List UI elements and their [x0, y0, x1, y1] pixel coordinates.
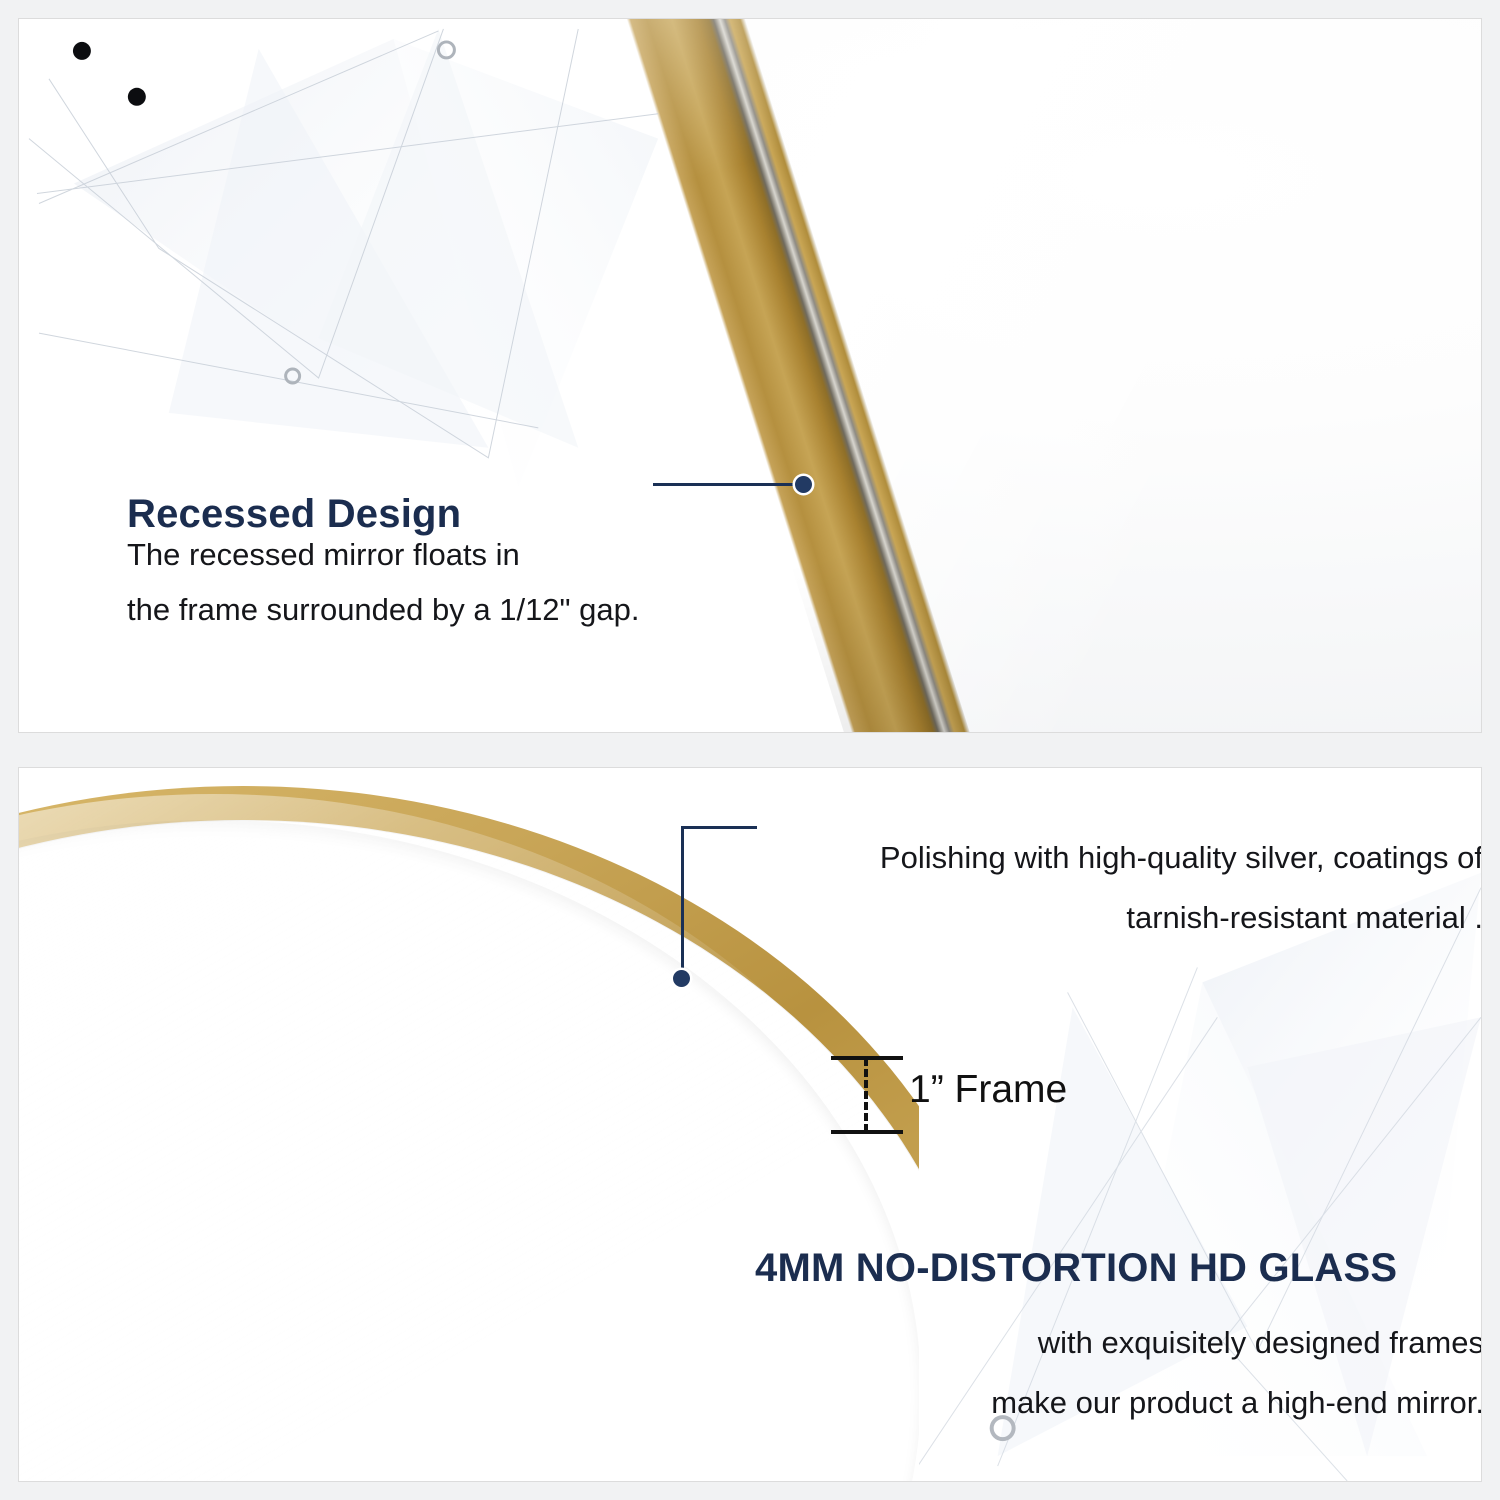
headline-hd-glass: 4MM NO-DISTORTION HD GLASS [755, 1246, 1482, 1291]
sub-line-2: make our product a high-end mirror. [709, 1373, 1482, 1433]
callout-line-2: tarnish-resistant material . [741, 888, 1482, 948]
panel-recessed-design: Recessed Design The recessed mirror floa… [18, 18, 1482, 733]
callout-anchor-dot [673, 970, 690, 987]
dimension-bar-bottom [831, 1130, 903, 1134]
sub-line-1: with exquisitely designed frames [709, 1313, 1482, 1373]
body-line-2: the frame surrounded by a 1/12" gap. [127, 582, 807, 637]
callout-text-silver-coating: Polishing with high-quality silver, coat… [741, 828, 1482, 949]
callout-leader-line [653, 483, 803, 486]
subtext-hd-glass: with exquisitely designed frames make ou… [709, 1313, 1482, 1432]
panel-hd-glass: Polishing with high-quality silver, coat… [18, 767, 1482, 1482]
dimension-label-frame-width: 1” Frame [909, 1068, 1067, 1112]
panel-body-recessed-design: The recessed mirror floats in the frame … [127, 527, 807, 637]
callout-line-1: Polishing with high-quality silver, coat… [741, 828, 1482, 888]
infographic-page: Recessed Design The recessed mirror floa… [0, 0, 1500, 1500]
callout-anchor-dot [795, 476, 812, 493]
body-line-1: The recessed mirror floats in [127, 527, 807, 582]
dimension-dashed-line [864, 1058, 868, 1132]
callout-bracket-vertical [681, 826, 684, 978]
